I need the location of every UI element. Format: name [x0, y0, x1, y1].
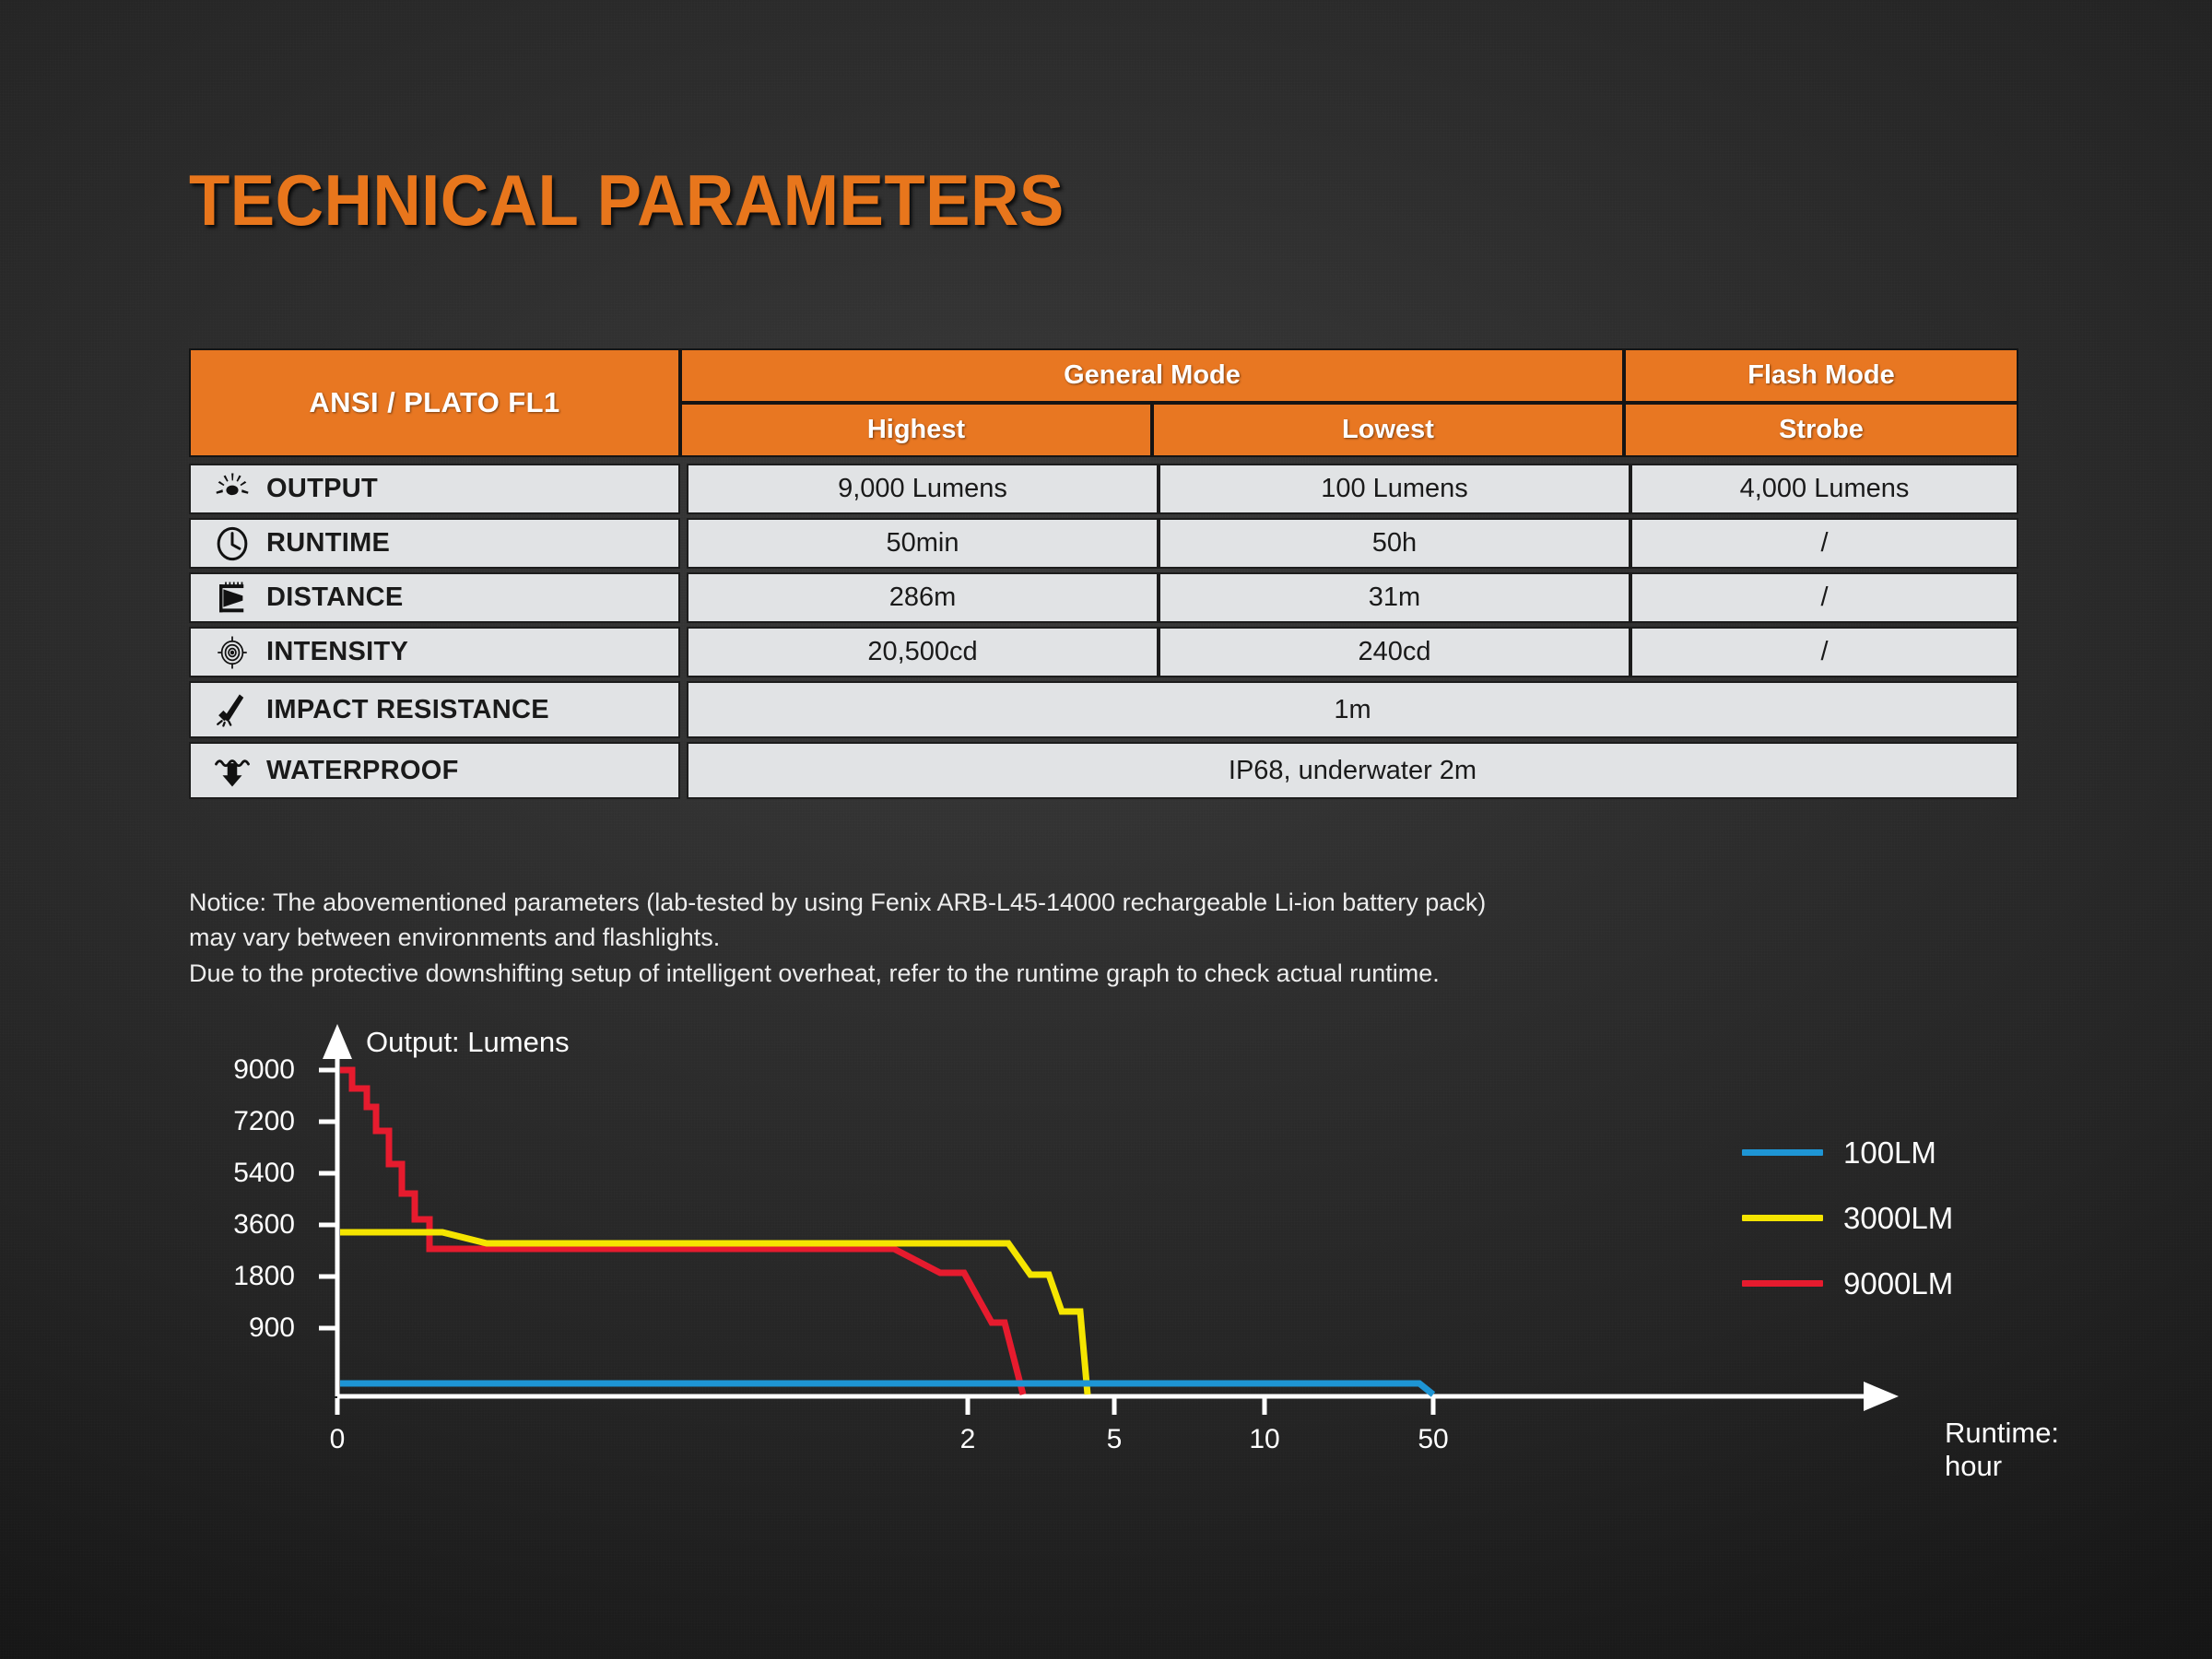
legend-swatch-100lm	[1742, 1149, 1823, 1156]
legend-swatch-3000lm	[1742, 1215, 1823, 1221]
row-label-cell: IMPACT RESISTANCE	[189, 681, 680, 738]
x-tick-label: 50	[1396, 1424, 1470, 1455]
y-tick-label: 900	[184, 1312, 295, 1344]
y-tick-label: 7200	[184, 1106, 295, 1137]
cell-strobe: /	[1630, 627, 2018, 677]
header-sub-row: Highest Lowest Strobe	[680, 403, 2018, 457]
table-header: ANSI / PLATO FL1 General Mode Flash Mode…	[189, 348, 2018, 457]
cell-strobe: /	[1630, 518, 2018, 569]
legend-label: 100LM	[1843, 1135, 1936, 1171]
x-tick-marks	[337, 1398, 1433, 1415]
row-label: INTENSITY	[266, 637, 408, 667]
y-tick-label: 3600	[184, 1209, 295, 1241]
legend-label: 9000LM	[1843, 1266, 1953, 1301]
row-values: 20,500cd 240cd /	[687, 627, 2018, 677]
light-burst-icon	[213, 470, 252, 509]
cell-lowest: 50h	[1159, 518, 1630, 569]
table-row: IMPACT RESISTANCE 1m	[189, 681, 2018, 738]
row-values: 50min 50h /	[687, 518, 2018, 569]
row-label: WATERPROOF	[266, 756, 459, 786]
row-values: 9,000 Lumens 100 Lumens 4,000 Lumens	[687, 464, 2018, 514]
page-title: TECHNICAL PARAMETERS	[189, 159, 1065, 242]
table-row: WATERPROOF IP68, underwater 2m	[189, 742, 2018, 799]
target-icon	[213, 633, 252, 672]
table-row: RUNTIME 50min 50h /	[189, 518, 2018, 569]
table-row: DISTANCE 286m 31m /	[189, 572, 2018, 623]
cell-strobe: /	[1630, 572, 2018, 623]
spec-sheet-page: TECHNICAL PARAMETERS ANSI / PLATO FL1 Ge…	[0, 0, 2212, 1659]
cell-highest: 20,500cd	[687, 627, 1159, 677]
table-body: OUTPUT 9,000 Lumens 100 Lumens 4,000 Lum…	[189, 464, 2018, 799]
x-axis-label: Runtime: hour	[1945, 1417, 2092, 1483]
cell-highest: 286m	[687, 572, 1159, 623]
cell-lowest: 31m	[1159, 572, 1630, 623]
row-label-cell: WATERPROOF	[189, 742, 680, 799]
row-values: 1m	[687, 681, 2018, 738]
row-values: 286m 31m /	[687, 572, 2018, 623]
legend-label: 3000LM	[1843, 1201, 1953, 1236]
x-tick-label: 2	[931, 1424, 1005, 1455]
clock-icon	[213, 524, 252, 563]
header-strobe: Strobe	[1624, 403, 2018, 457]
notice-line-2: may vary between environments and flashl…	[189, 920, 2032, 955]
header-highest: Highest	[680, 403, 1152, 457]
header-flash-mode: Flash Mode	[1624, 348, 2018, 403]
y-tick-label: 1800	[184, 1261, 295, 1292]
notice-block: Notice: The abovementioned parameters (l…	[189, 885, 2032, 991]
specifications-table: ANSI / PLATO FL1 General Mode Flash Mode…	[189, 348, 2018, 803]
row-label-cell: DISTANCE	[189, 572, 680, 623]
x-tick-label: 10	[1228, 1424, 1301, 1455]
row-label-cell: INTENSITY	[189, 627, 680, 677]
cell-highest: 50min	[687, 518, 1159, 569]
y-axis-label: Output: Lumens	[366, 1026, 570, 1059]
legend-swatch-9000lm	[1742, 1280, 1823, 1287]
cell-strobe: 4,000 Lumens	[1630, 464, 2018, 514]
table-row: INTENSITY 20,500cd 240cd /	[189, 627, 2018, 677]
cell-highest: 9,000 Lumens	[687, 464, 1159, 514]
row-label: OUTPUT	[266, 474, 378, 504]
x-tick-label: 0	[300, 1424, 374, 1455]
series-100lm	[340, 1383, 1433, 1394]
cell-span: IP68, underwater 2m	[687, 742, 2018, 799]
legend-item: 100LM	[1742, 1120, 1953, 1185]
row-label: DISTANCE	[266, 582, 403, 613]
y-axis	[323, 1024, 352, 1396]
waterproof-icon	[213, 751, 252, 790]
header-lowest: Lowest	[1152, 403, 1624, 457]
y-tick-marks	[319, 1070, 335, 1328]
x-tick-label: 5	[1077, 1424, 1151, 1455]
legend-item: 9000LM	[1742, 1251, 1953, 1316]
header-group-row: General Mode Flash Mode	[680, 348, 2018, 403]
row-values: IP68, underwater 2m	[687, 742, 2018, 799]
row-label-cell: OUTPUT	[189, 464, 680, 514]
beam-ruler-icon	[213, 579, 252, 618]
table-row: OUTPUT 9,000 Lumens 100 Lumens 4,000 Lum…	[189, 464, 2018, 514]
impact-icon	[213, 690, 252, 729]
series-3000lm	[340, 1232, 1088, 1394]
cell-lowest: 240cd	[1159, 627, 1630, 677]
y-tick-label: 9000	[184, 1054, 295, 1086]
chart-legend: 100LM 3000LM 9000LM	[1742, 1120, 1953, 1316]
cell-lowest: 100 Lumens	[1159, 464, 1630, 514]
cell-span: 1m	[687, 681, 2018, 738]
header-corner-cell: ANSI / PLATO FL1	[189, 348, 680, 457]
header-right-group: General Mode Flash Mode Highest Lowest S…	[680, 348, 2018, 457]
notice-line-1: Notice: The abovementioned parameters (l…	[189, 885, 2032, 920]
legend-item: 3000LM	[1742, 1185, 1953, 1251]
header-general-mode: General Mode	[680, 348, 1624, 403]
y-tick-label: 5400	[184, 1158, 295, 1189]
row-label: RUNTIME	[266, 528, 390, 559]
row-label-cell: RUNTIME	[189, 518, 680, 569]
notice-line-3: Due to the protective downshifting setup…	[189, 956, 2032, 991]
row-label: IMPACT RESISTANCE	[266, 695, 549, 725]
header-corner-label: ANSI / PLATO FL1	[309, 386, 559, 419]
